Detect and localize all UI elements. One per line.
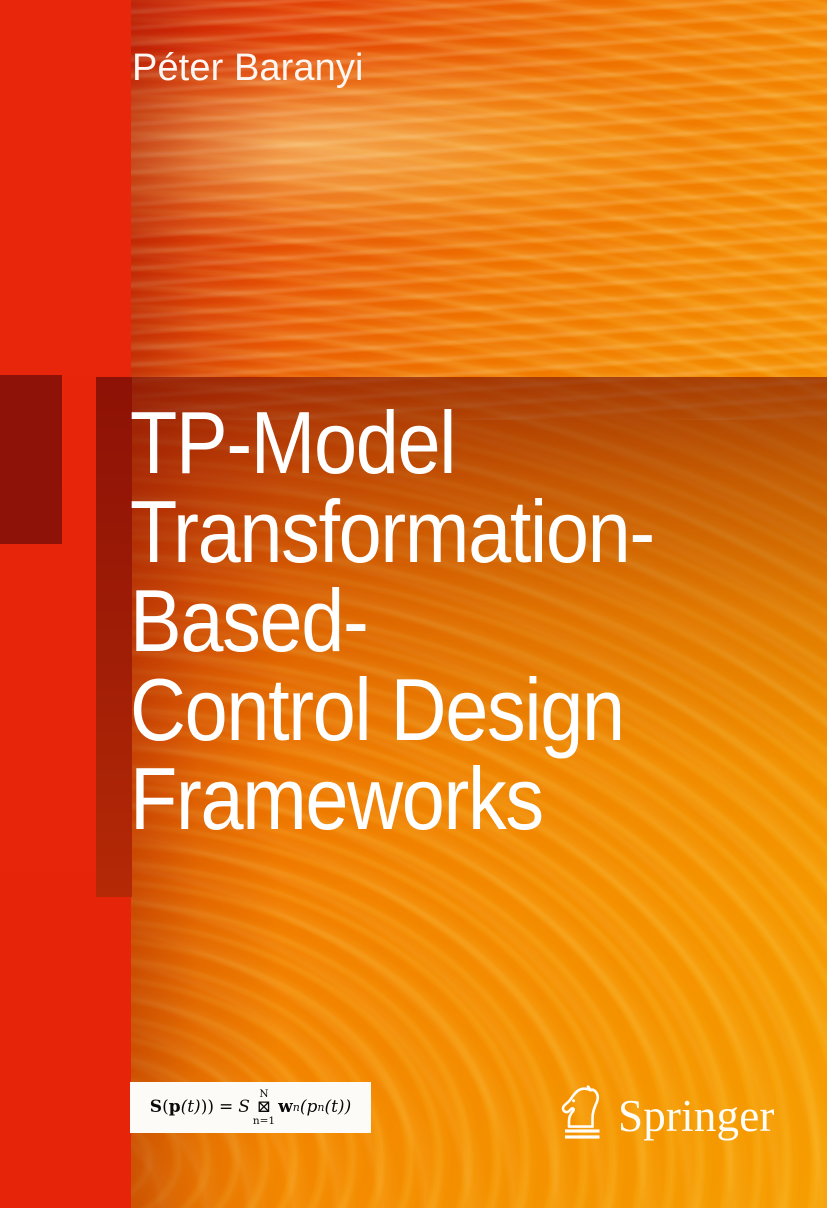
formula-lhs-S: S bbox=[150, 1099, 162, 1116]
publisher-logo: Springer bbox=[560, 1085, 775, 1148]
formula-lower-limit: n=1 bbox=[253, 1116, 275, 1127]
title-line-4: Control Design bbox=[130, 665, 737, 754]
formula-expression: S(p(t))) = S N ⊠ n=1 wn(pn(t)) bbox=[150, 1089, 351, 1127]
springer-wordmark: Springer bbox=[618, 1094, 775, 1139]
title-line-3: Based- bbox=[130, 576, 737, 665]
book-title: TP-Model Transformation- Based- Control … bbox=[130, 398, 820, 843]
formula-rhs-tail: (p bbox=[300, 1099, 318, 1116]
formula-rhs-tail-end: (t)) bbox=[324, 1099, 351, 1116]
formula-lhs-p: p bbox=[169, 1099, 181, 1116]
formula-lhs-close: )) bbox=[201, 1099, 214, 1116]
formula-rhs-sub-n: n bbox=[293, 1102, 300, 1113]
title-line-5: Frameworks bbox=[130, 754, 737, 843]
left-dark-red-rectangle bbox=[0, 375, 62, 544]
springer-knight-icon bbox=[560, 1085, 606, 1148]
formula-lhs-t: (t) bbox=[181, 1099, 201, 1116]
title-shadow-band bbox=[96, 377, 132, 897]
formula-box: S(p(t))) = S N ⊠ n=1 wn(pn(t)) bbox=[130, 1082, 371, 1133]
formula-big-operator: N ⊠ n=1 bbox=[253, 1089, 275, 1127]
author-name: Péter Baranyi bbox=[132, 47, 364, 90]
title-line-1: TP-Model bbox=[130, 398, 737, 487]
formula-rhs-w: w bbox=[278, 1099, 293, 1116]
boxtimes-icon: ⊠ bbox=[257, 1099, 271, 1116]
formula-lhs-open: ( bbox=[162, 1099, 169, 1116]
formula-cal-S: S bbox=[238, 1099, 250, 1116]
formula-equals: = bbox=[219, 1099, 233, 1116]
book-cover: Péter Baranyi TP-Model Transformation- B… bbox=[0, 0, 827, 1208]
title-line-2: Transformation- bbox=[130, 487, 737, 576]
formula-rhs-tail-sub: n bbox=[317, 1102, 324, 1113]
